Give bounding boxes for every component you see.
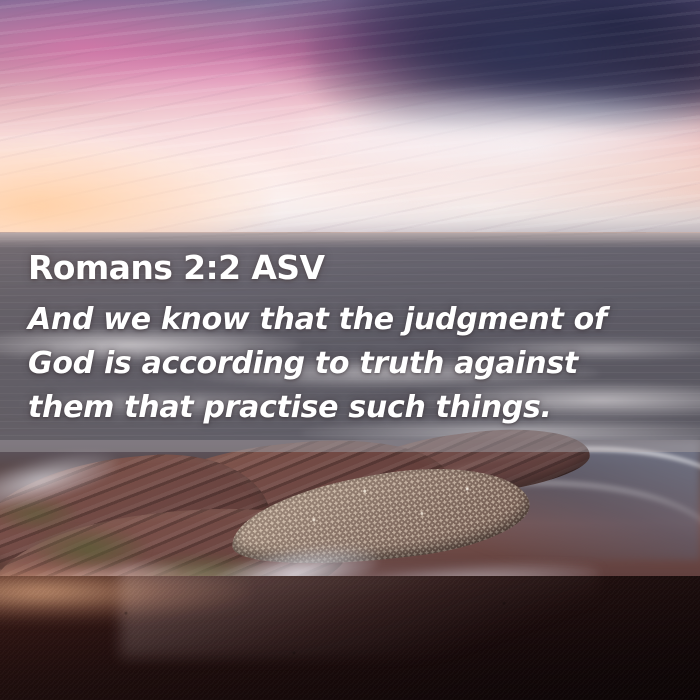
sand-beach bbox=[0, 576, 700, 700]
white-cloud-bank bbox=[290, 88, 700, 208]
sky-background bbox=[0, 0, 700, 236]
verse-text-block: Romans 2:2 ASV And we know that the judg… bbox=[0, 233, 700, 452]
sand-grain-texture bbox=[0, 576, 700, 700]
verse-reference: Romans 2:2 ASV bbox=[28, 251, 674, 286]
verse-body-text: And we know that the judgment of God is … bbox=[28, 298, 674, 430]
verse-image-canvas: Romans 2:2 ASV And we know that the judg… bbox=[0, 0, 700, 700]
